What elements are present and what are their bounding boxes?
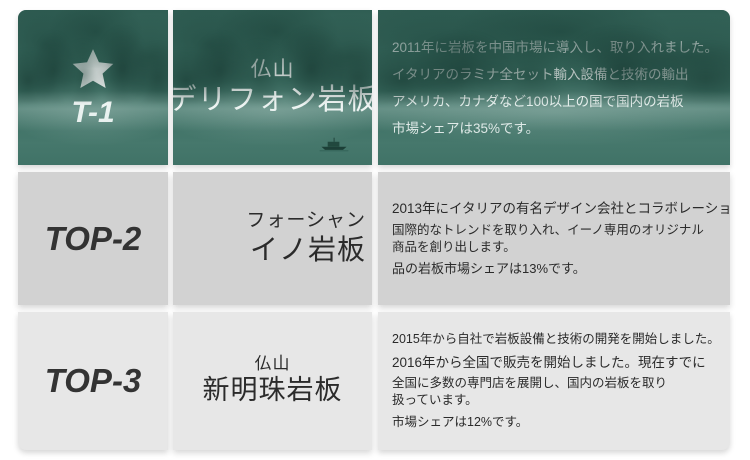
rank-label: TOP-2 xyxy=(45,220,142,258)
description-line: アメリカ、カナダなど100以上の国で国内の岩板 xyxy=(392,88,730,115)
description-line: 商品を創り出します。 xyxy=(392,239,730,256)
brand-cell: 仏山 新明珠岩板 xyxy=(173,312,372,450)
description-line: 2013年にイタリアの有名デザイン会社とコラボレーション xyxy=(392,196,730,222)
rank-cell: TOP-2 xyxy=(18,172,168,305)
description-line: 扱っています。 xyxy=(392,392,730,409)
description-line: 市場シェアは35%です。 xyxy=(392,115,730,142)
description-line: 2011年に岩板を中国市場に導入し、取り入れました。 xyxy=(392,34,730,61)
description-cell: 2015年から自社で岩板設備と技術の開発を開始しました。 2016年から全国で販… xyxy=(378,312,730,450)
row-1-rank-card[interactable]: T-1 xyxy=(18,10,168,165)
rank-cell: T-1 xyxy=(18,10,168,165)
brand-main-label: 新明珠岩板 xyxy=(203,374,343,408)
brand-cell: フォーシャン イノ岩板 xyxy=(173,172,372,305)
description-line: 品の岩板市場シェアは13%です。 xyxy=(392,256,730,282)
brand-main-label: イノ岩板 xyxy=(250,232,366,267)
row-2-description-card[interactable]: 2013年にイタリアの有名デザイン会社とコラボレーション 国際的なトレンドを取り… xyxy=(378,172,730,305)
row-3-brand-card[interactable]: 仏山 新明珠岩板 xyxy=(173,312,372,450)
description-cell: 2013年にイタリアの有名デザイン会社とコラボレーション 国際的なトレンドを取り… xyxy=(378,172,730,305)
description-line: 市場シェアは12%です。 xyxy=(392,409,730,435)
row-1-brand-card[interactable]: 仏山 デリフォン岩板 xyxy=(173,10,372,165)
row-2-rank-card[interactable]: TOP-2 xyxy=(18,172,168,305)
star-icon xyxy=(70,46,116,92)
row-1-description-card[interactable]: 2011年に岩板を中国市場に導入し、取り入れました。 イタリアのラミナ全セット輸… xyxy=(378,10,730,165)
rank-cell: TOP-3 xyxy=(18,312,168,450)
row-3-rank-card[interactable]: TOP-3 xyxy=(18,312,168,450)
description-line: 全国に多数の専門店を展開し、国内の岩板を取り xyxy=(392,375,730,392)
rank-label: T-1 xyxy=(71,96,114,130)
description-cell: 2011年に岩板を中国市場に導入し、取り入れました。 イタリアのラミナ全セット輸… xyxy=(378,10,730,165)
brand-sub-label: フォーシャン xyxy=(246,210,366,233)
rank-label: TOP-3 xyxy=(45,362,142,400)
description-line: 国際的なトレンドを取り入れ、イーノ専用のオリジナル xyxy=(392,222,730,239)
brand-sub-label: 仏山 xyxy=(255,354,291,374)
row-3-description-card[interactable]: 2015年から自社で岩板設備と技術の開発を開始しました。 2016年から全国で販… xyxy=(378,312,730,450)
description-line: イタリアのラミナ全セット輸入設備と技術の輸出 xyxy=(392,61,730,88)
brand-sub-label: 仏山 xyxy=(251,57,295,82)
description-line: 2015年から自社で岩板設備と技術の開発を開始しました。 xyxy=(392,327,730,351)
row-2-brand-card[interactable]: フォーシャン イノ岩板 xyxy=(173,172,372,305)
description-line: 2016年から全国で販売を開始しました。現在すでに xyxy=(392,351,730,375)
brand-cell: 仏山 デリフォン岩板 xyxy=(173,10,372,165)
ranking-board: T-1 仏山 デリフォン岩板 2011年に岩板を中国市場に導入し、取り入れました… xyxy=(0,0,750,460)
brand-main-label: デリフォン岩板 xyxy=(173,82,372,118)
